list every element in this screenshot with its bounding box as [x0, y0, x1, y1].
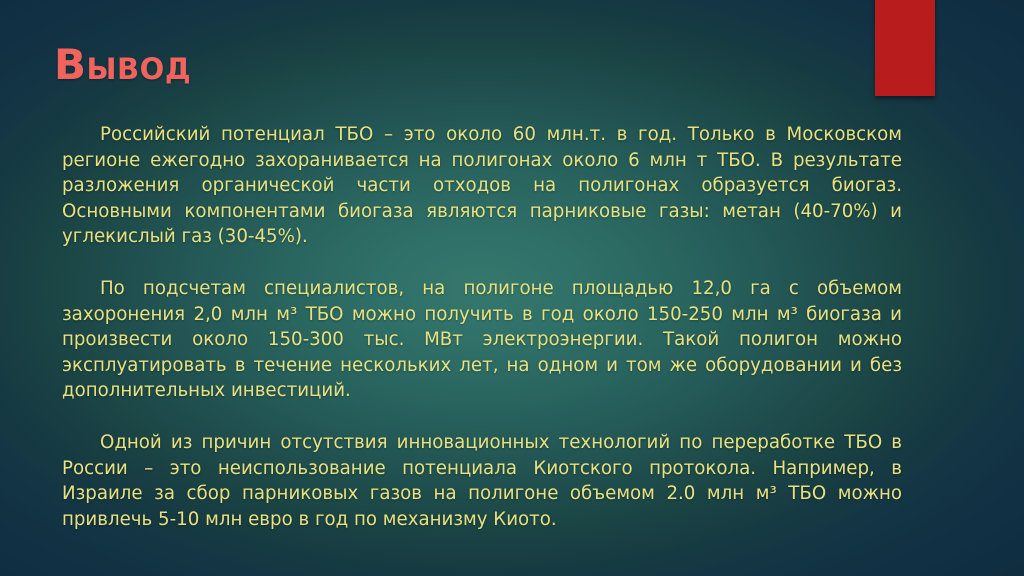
body-paragraph-2: По подсчетам специалистов, на полигоне п… — [62, 276, 902, 404]
slide-title: Вывод — [54, 40, 191, 90]
presentation-slide: Вывод Российский потенциал ТБО – это око… — [0, 0, 1024, 576]
body-paragraph-1: Российский потенциал ТБО – это около 60 … — [62, 122, 902, 250]
accent-block-decoration — [875, 0, 935, 96]
slide-body-text: Российский потенциал ТБО – это около 60 … — [62, 122, 902, 532]
body-paragraph-3: Одной из причин отсутствия инновационных… — [62, 430, 902, 532]
